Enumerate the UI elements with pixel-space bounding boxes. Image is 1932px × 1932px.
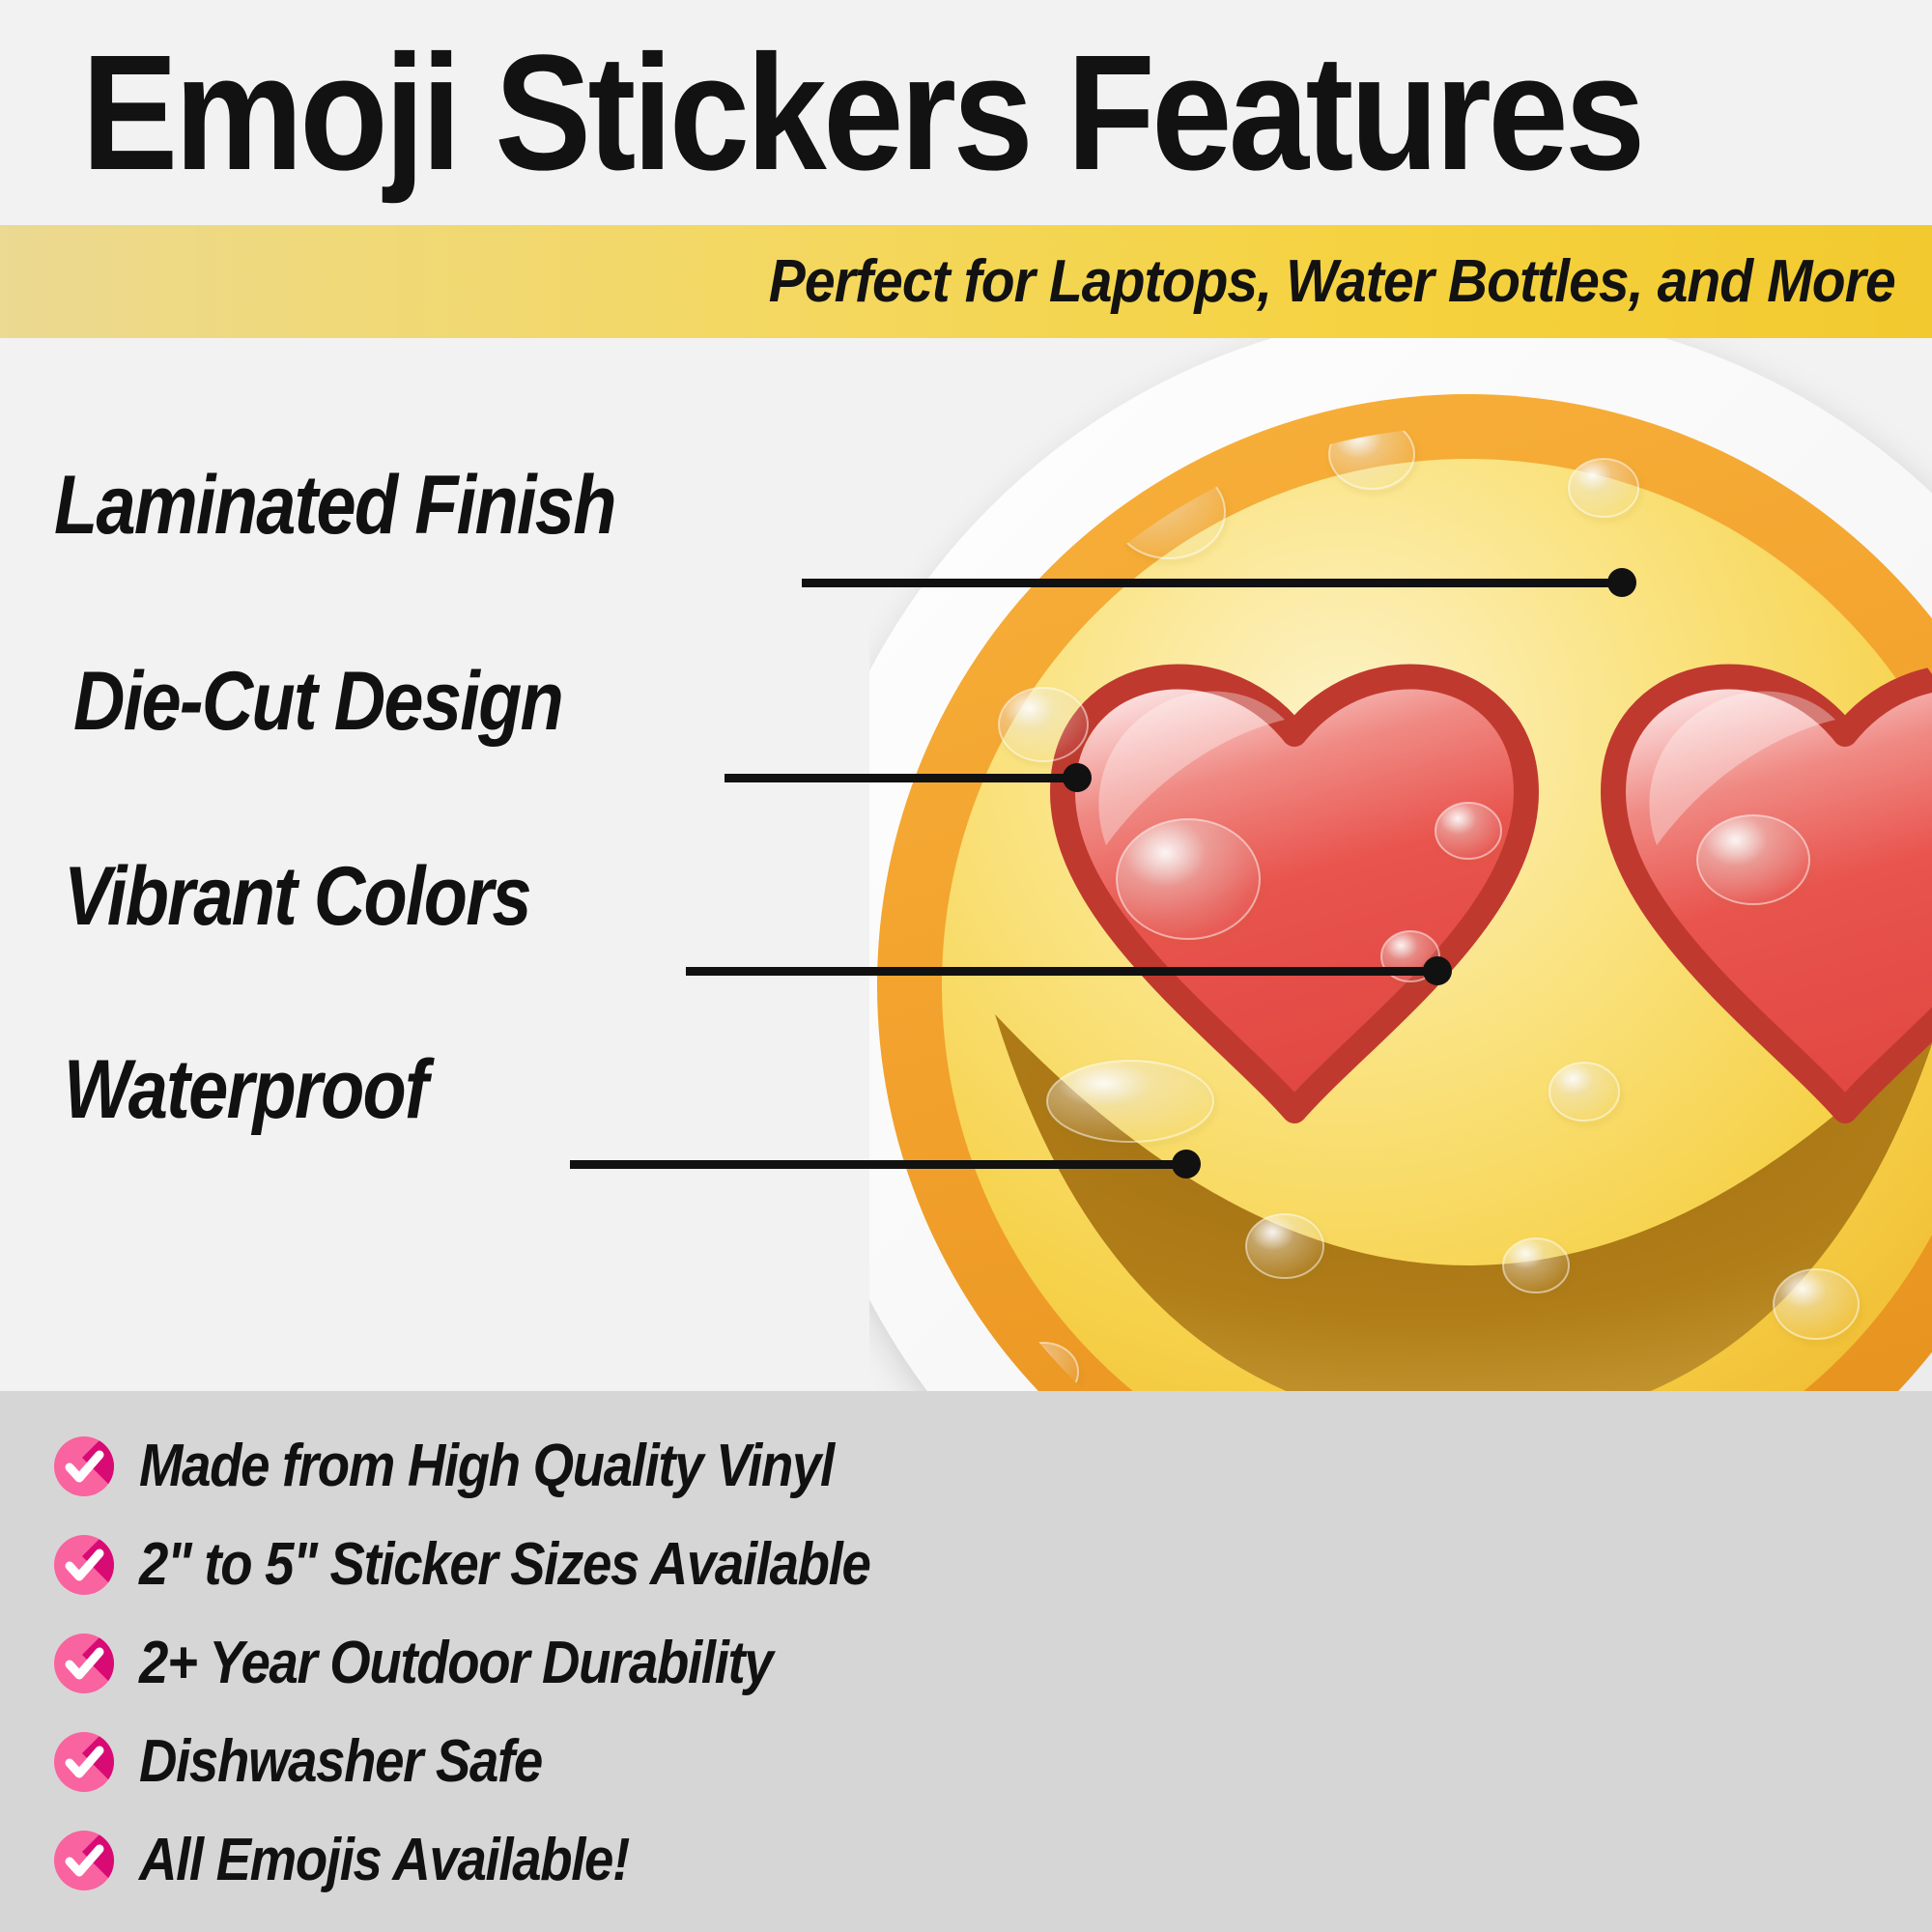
- check-icon: [54, 1634, 114, 1693]
- check-icon: [54, 1831, 114, 1890]
- checklist-item-label: 2" to 5" Sticker Sizes Available: [139, 1535, 870, 1595]
- leader-dot-vibrant-colors: [1423, 956, 1452, 985]
- list-item: All Emojis Available!: [54, 1816, 970, 1905]
- check-icon: [54, 1535, 114, 1595]
- checklist-item-label: Dishwasher Safe: [139, 1732, 542, 1792]
- subtitle-banner: Perfect for Laptops, Water Bottles, and …: [0, 225, 1932, 338]
- header-bar: Emoji Stickers Features: [0, 0, 1932, 225]
- list-item: 2+ Year Outdoor Durability: [54, 1619, 970, 1708]
- check-icon: [54, 1732, 114, 1792]
- checklist-item-label: Made from High Quality Vinyl: [139, 1436, 834, 1496]
- leader-line-laminated-finish: [802, 579, 1609, 587]
- check-icon: [54, 1436, 114, 1496]
- subtitle-text: Perfect for Laptops, Water Bottles, and …: [768, 252, 1932, 312]
- feature-label-laminated-finish: Laminated Finish: [54, 464, 615, 547]
- leader-dot-laminated-finish: [1607, 568, 1636, 597]
- checklist-item-label: All Emojis Available!: [139, 1831, 629, 1890]
- checklist-panel: Made from High Quality Vinyl 2" to 5" St…: [0, 1391, 1932, 1932]
- leader-line-waterproof: [570, 1160, 1174, 1169]
- leader-dot-die-cut-design: [1063, 763, 1092, 792]
- leader-line-die-cut-design: [724, 774, 1065, 782]
- list-item: Dishwasher Safe: [54, 1718, 970, 1806]
- list-item: Made from High Quality Vinyl: [54, 1422, 970, 1511]
- leader-dot-waterproof: [1172, 1150, 1201, 1179]
- list-item: 2" to 5" Sticker Sizes Available: [54, 1520, 970, 1609]
- leader-line-vibrant-colors: [686, 967, 1425, 976]
- feature-callout-group: Laminated Finish Die-Cut Design Vibrant …: [0, 338, 1932, 1391]
- checklist: Made from High Quality Vinyl 2" to 5" St…: [54, 1422, 970, 1915]
- poster-canvas: Emoji Stickers Features Perfect for Lapt…: [0, 0, 1932, 1932]
- feature-label-waterproof: Waterproof: [64, 1048, 427, 1131]
- feature-label-vibrant-colors: Vibrant Colors: [64, 855, 530, 938]
- checklist-item-label: 2+ Year Outdoor Durability: [139, 1634, 772, 1693]
- feature-label-die-cut-design: Die-Cut Design: [73, 660, 562, 743]
- page-title: Emoji Stickers Features: [0, 31, 1642, 195]
